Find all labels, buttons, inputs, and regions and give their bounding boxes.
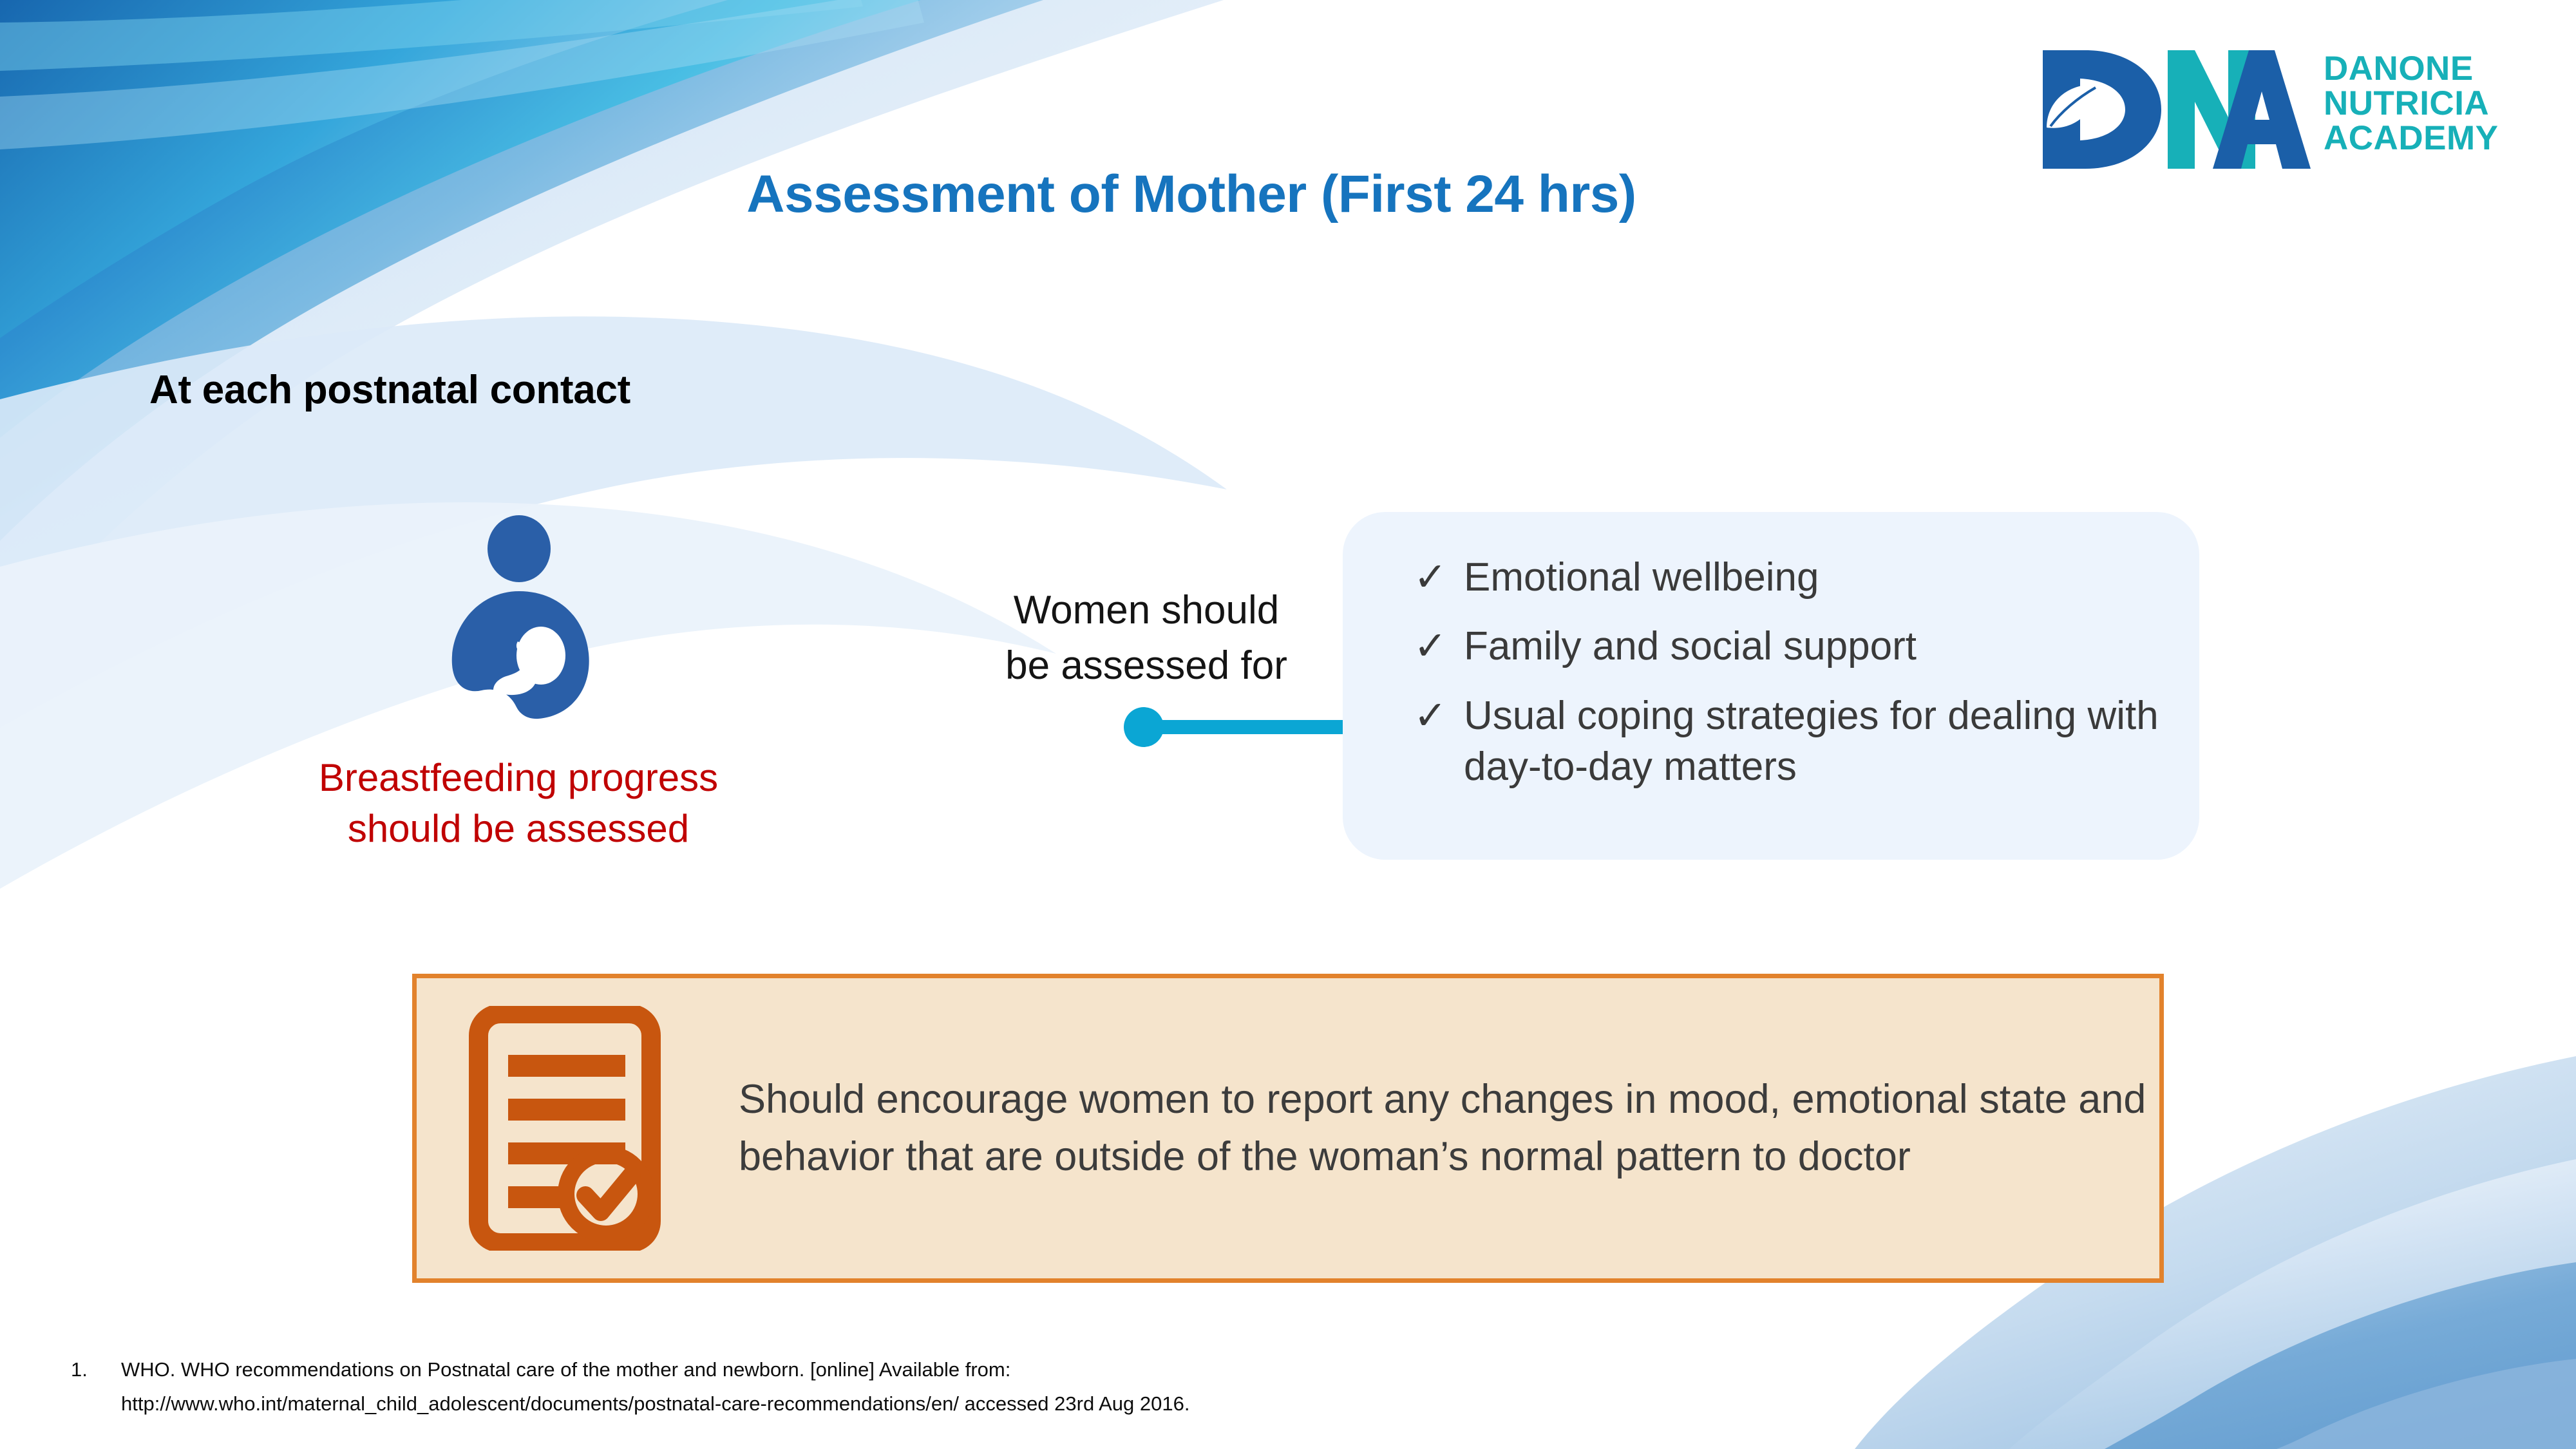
breastfeeding-caption-line2: should be assessed xyxy=(293,803,744,854)
callout-text: Should encourage women to report any cha… xyxy=(739,1071,2159,1186)
checkmark-icon: ✓ xyxy=(1414,552,1464,603)
dna-logo-wordmark: DANONE NUTRICIA ACADEMY xyxy=(2324,52,2498,156)
dna-logo: DANONE NUTRICIA ACADEMY xyxy=(2035,45,2505,174)
connector-label: Women should be assessed for xyxy=(992,583,1301,693)
list-item: ✓ Family and social support xyxy=(1414,621,2161,672)
footnote-line1: WHO. WHO recommendations on Postnatal ca… xyxy=(121,1352,2003,1387)
checkmark-icon: ✓ xyxy=(1414,621,1464,672)
assessment-item-text: Usual coping strategies for dealing with… xyxy=(1464,690,2161,793)
footnote-line2: http://www.who.int/maternal_child_adoles… xyxy=(121,1387,2003,1421)
logo-line-danone: DANONE xyxy=(2324,52,2498,86)
connector-line xyxy=(1159,720,1352,734)
slide-canvas: DANONE NUTRICIA ACADEMY Assessment of Mo… xyxy=(0,0,2576,1449)
clipboard-checklist-icon xyxy=(468,1006,681,1251)
slide-title: Assessment of Mother (First 24 hrs) xyxy=(451,164,1932,225)
assessment-item-text: Emotional wellbeing xyxy=(1464,552,1819,603)
section-heading: At each postnatal contact xyxy=(149,367,630,413)
assessment-item-text: Family and social support xyxy=(1464,621,1917,672)
assessment-list-box: ✓ Emotional wellbeing ✓ Family and socia… xyxy=(1343,512,2199,860)
list-item: ✓ Emotional wellbeing xyxy=(1414,552,2161,603)
breastfeeding-mother-icon xyxy=(431,515,605,728)
connector-label-line2: be assessed for xyxy=(992,638,1301,694)
checkmark-icon: ✓ xyxy=(1414,690,1464,741)
footnote-reference: 1. WHO. WHO recommendations on Postnatal… xyxy=(71,1352,2003,1421)
breastfeeding-caption-line1: Breastfeeding progress xyxy=(293,752,744,803)
logo-line-academy: ACADEMY xyxy=(2324,121,2498,156)
callout-box: Should encourage women to report any cha… xyxy=(412,974,2164,1283)
connector-label-line1: Women should xyxy=(992,583,1301,638)
footnote-number: 1. xyxy=(71,1352,88,1387)
dna-logo-mark xyxy=(2035,45,2312,174)
connector-dot xyxy=(1124,707,1164,747)
breastfeeding-block: Breastfeeding progress should be assesse… xyxy=(293,515,744,854)
logo-line-nutricia: NUTRICIA xyxy=(2324,86,2498,121)
breastfeeding-caption: Breastfeeding progress should be assesse… xyxy=(293,752,744,854)
footnote-body: WHO. WHO recommendations on Postnatal ca… xyxy=(121,1352,2003,1421)
list-item: ✓ Usual coping strategies for dealing wi… xyxy=(1414,690,2161,793)
